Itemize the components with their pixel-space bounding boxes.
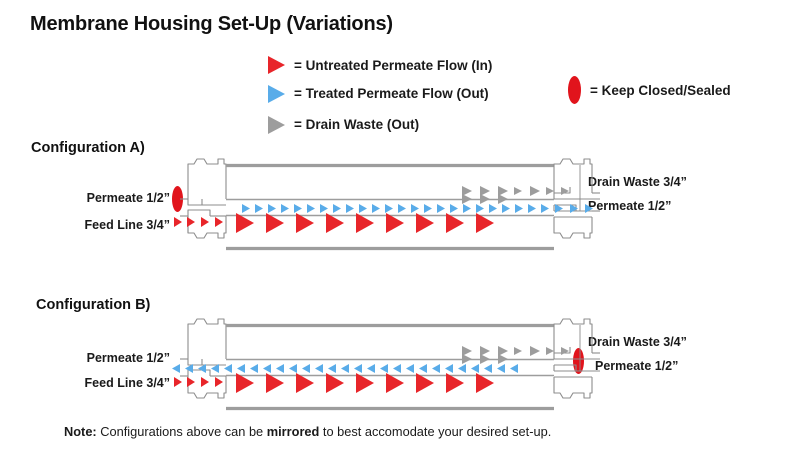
drain-arrows-lower [462, 194, 508, 204]
right-triangle-blue-icon [268, 85, 285, 103]
config-b-left-label-feed: Feed Line 3/4” [35, 376, 170, 390]
drain-arrows-upper [462, 186, 569, 196]
config-a-left-label-feed: Feed Line 3/4” [35, 218, 170, 232]
note-emphasis: mirrored [267, 424, 320, 439]
right-triangle-gray-icon [268, 116, 285, 134]
legend-item-label: = Drain Waste (Out) [294, 117, 419, 132]
config-b-right-label-permeate: Permeate 1/2” [595, 359, 678, 373]
legend-item-sealed: = Keep Closed/Sealed [568, 76, 731, 104]
legend-item-untreated: = Untreated Permeate Flow (In) [268, 52, 492, 78]
red-oval-seal-icon [568, 76, 581, 104]
config-a-right-label-permeate: Permeate 1/2” [588, 199, 671, 213]
legend: = Untreated Permeate Flow (In) = Treated… [268, 52, 492, 140]
right-triangle-red-icon [268, 56, 285, 74]
config-b-title: Configuration B) [36, 297, 150, 313]
legend-item-treated: = Treated Permeate Flow (Out) [268, 78, 492, 109]
feed-arrows-small [174, 217, 223, 227]
config-a-vessel [180, 155, 600, 260]
config-b-vessel [180, 315, 600, 420]
config-b-left-label-permeate: Permeate 1/2” [35, 351, 170, 365]
permeate-arrows [242, 204, 593, 213]
legend-item-label: = Keep Closed/Sealed [590, 83, 731, 98]
drain-arrows-upper [462, 346, 569, 356]
legend-item-label: = Treated Permeate Flow (Out) [294, 86, 489, 101]
note-body-1: Configurations above can be [97, 424, 267, 439]
config-a-title: Configuration A) [31, 140, 145, 156]
feed-arrows-small [174, 377, 223, 387]
config-a-right-label-drain: Drain Waste 3/4” [588, 175, 687, 189]
legend-item-drain: = Drain Waste (Out) [268, 109, 492, 140]
legend-item-label: = Untreated Permeate Flow (In) [294, 58, 492, 73]
config-b-right-label-drain: Drain Waste 3/4” [588, 335, 687, 349]
footer-note: Note: Configurations above can be mirror… [64, 424, 551, 439]
page-title: Membrane Housing Set-Up (Variations) [30, 13, 393, 36]
config-a-left-label-permeate: Permeate 1/2” [35, 191, 170, 205]
note-prefix: Note: [64, 424, 97, 439]
note-body-2: to best accomodate your desired set-up. [319, 424, 551, 439]
drain-arrows-lower [462, 354, 508, 364]
